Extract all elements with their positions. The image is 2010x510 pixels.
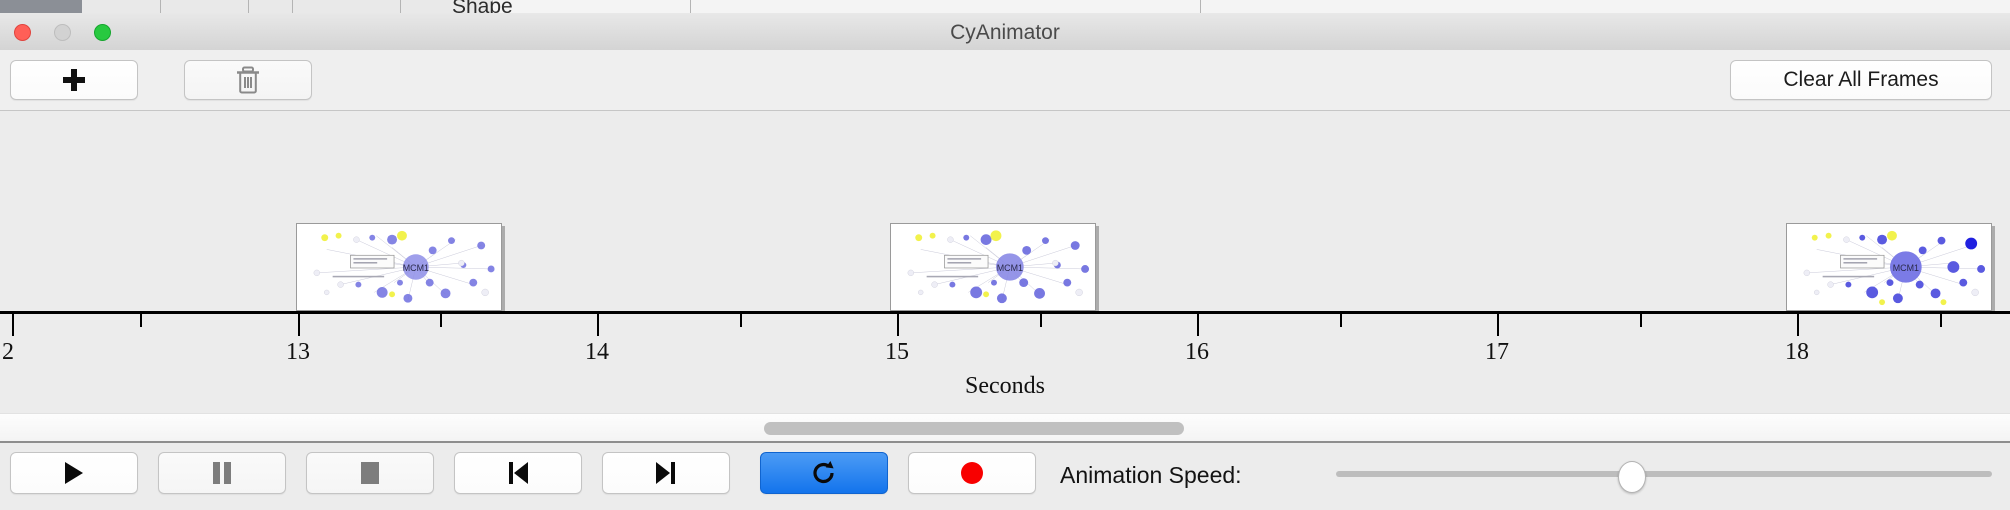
- record-button[interactable]: [908, 452, 1036, 494]
- trash-icon: [235, 66, 261, 94]
- add-frame-button[interactable]: [10, 60, 138, 100]
- toolbar: Clear All Frames: [0, 50, 2010, 111]
- axis-tick-major: [897, 314, 899, 336]
- hub-node-label: MCM1: [997, 263, 1023, 273]
- last-frame-button[interactable]: [602, 452, 730, 494]
- network-thumbnail: MCM1: [1787, 224, 1991, 310]
- axis-tick-label: 16: [1185, 339, 1209, 366]
- axis-tick-label: 14: [585, 339, 609, 366]
- timeline-axis[interactable]: 2131415161718 Seconds: [0, 311, 2010, 407]
- timeline-scrollbar[interactable]: [0, 413, 2010, 443]
- background-window-titlebar: [0, 0, 82, 13]
- stop-icon: [358, 460, 382, 486]
- loop-icon: [810, 459, 838, 487]
- clear-all-frames-button[interactable]: Clear All Frames: [1730, 60, 1992, 100]
- background-window-label: Shape: [452, 0, 513, 13]
- title-bar: CyAnimator: [0, 13, 2010, 51]
- loop-button[interactable]: [760, 452, 888, 494]
- network-thumbnail: MCM1: [891, 224, 1095, 310]
- axis-tick-label: 15: [885, 339, 909, 366]
- background-window-segment: [232, 0, 403, 13]
- background-window: Shape: [0, 0, 2010, 13]
- slider-thumb[interactable]: [1618, 461, 1646, 493]
- background-window-divider: [400, 0, 401, 13]
- axis-title: Seconds: [0, 373, 2010, 400]
- background-window-divider: [1200, 0, 1201, 13]
- axis-tick-major: [597, 314, 599, 336]
- background-window-divider: [248, 0, 249, 13]
- delete-frame-button[interactable]: [184, 60, 312, 100]
- skip-back-icon: [506, 460, 530, 486]
- timeline-frame[interactable]: MCM1: [1786, 223, 1992, 311]
- stop-button[interactable]: [306, 452, 434, 494]
- axis-tick-major: [298, 314, 300, 336]
- scrollbar-thumb[interactable]: [764, 422, 1184, 435]
- animation-speed-slider[interactable]: [1336, 452, 1992, 494]
- axis-tick-minor: [1940, 314, 1942, 327]
- pause-button[interactable]: [158, 452, 286, 494]
- play-button[interactable]: [10, 452, 138, 494]
- axis-tick-label: 2: [2, 339, 14, 366]
- hub-node-label: MCM1: [1893, 263, 1919, 273]
- axis-tick-minor: [1040, 314, 1042, 327]
- background-window-segment: [82, 0, 233, 13]
- network-thumbnail: MCM1: [297, 224, 501, 310]
- timeline-frame[interactable]: MCM1: [890, 223, 1096, 311]
- axis-tick-minor: [440, 314, 442, 327]
- axis-tick-major: [1497, 314, 1499, 336]
- play-icon: [62, 460, 86, 486]
- animation-speed-label: Animation Speed:: [1060, 462, 1242, 489]
- playback-toolbar: Animation Speed:: [0, 445, 2010, 510]
- axis-line: [0, 311, 2010, 314]
- pause-icon: [211, 460, 233, 486]
- first-frame-button[interactable]: [454, 452, 582, 494]
- axis-tick-minor: [1340, 314, 1342, 327]
- background-window-divider: [292, 0, 293, 13]
- clear-all-frames-label: Clear All Frames: [1783, 68, 1938, 92]
- axis-tick-label: 13: [286, 339, 310, 366]
- axis-tick-label: 17: [1485, 339, 1509, 366]
- axis-tick-minor: [140, 314, 142, 327]
- background-window-divider: [690, 0, 691, 13]
- axis-tick-minor: [1640, 314, 1642, 327]
- timeline-frame[interactable]: MCM1: [296, 223, 502, 311]
- axis-tick-label: 18: [1785, 339, 1809, 366]
- axis-tick-major: [1797, 314, 1799, 336]
- plus-icon: [63, 69, 85, 91]
- cyanimator-window: Shape CyAnimator Clear All Frames: [0, 0, 2010, 510]
- record-icon: [959, 460, 985, 486]
- axis-tick-major: [12, 314, 14, 336]
- slider-track: [1336, 471, 1992, 477]
- background-window-divider: [160, 0, 161, 13]
- frame-strip: MCM1: [0, 111, 2010, 311]
- axis-tick-major: [1197, 314, 1199, 336]
- axis-tick-minor: [740, 314, 742, 327]
- skip-forward-icon: [654, 460, 678, 486]
- hub-node-label: MCM1: [403, 263, 429, 273]
- window-title: CyAnimator: [0, 21, 2010, 45]
